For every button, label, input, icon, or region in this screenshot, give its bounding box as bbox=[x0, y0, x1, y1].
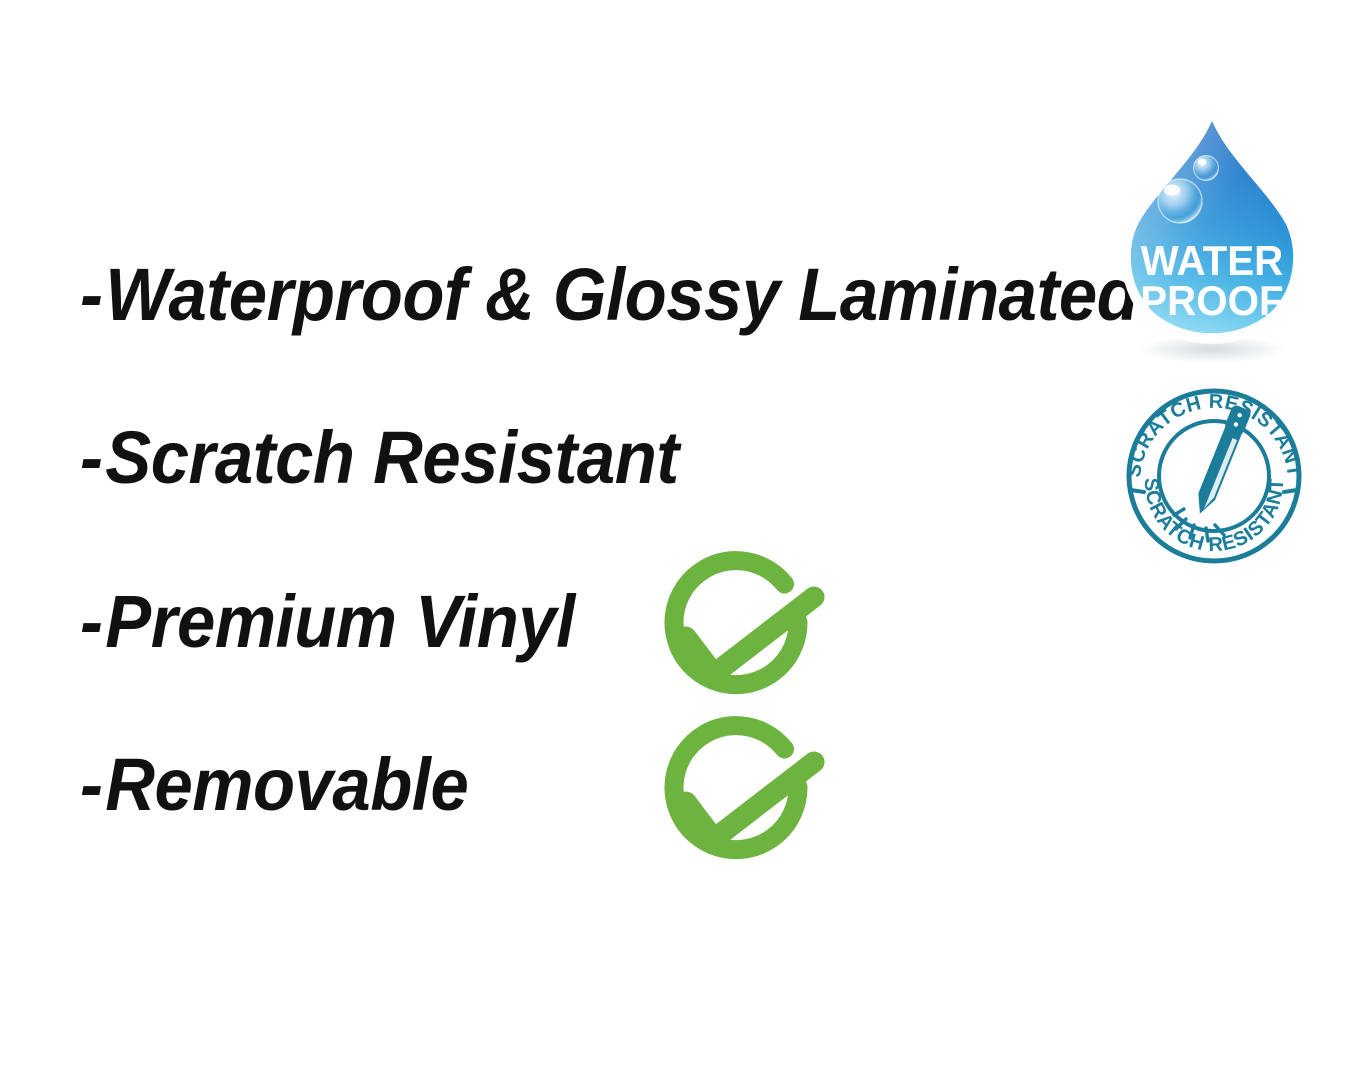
water-drop-icon: WATER PROOF bbox=[1098, 105, 1328, 367]
feature-item-premium-vinyl: -Premium Vinyl bbox=[80, 585, 575, 659]
circle-check-icon bbox=[636, 705, 836, 905]
scratch-resistant-badge: SCRATCH RESISTANT SCRATCH RESISTANT bbox=[1118, 386, 1310, 566]
feature-item-waterproof: -Waterproof & Glossy Laminated bbox=[80, 258, 1138, 332]
feature-list: -Waterproof & Glossy Laminated -Scratch … bbox=[0, 0, 1100, 1080]
bubble-large-highlight bbox=[1164, 185, 1180, 196]
knife-stamp-icon: SCRATCH RESISTANT SCRATCH RESISTANT bbox=[1118, 386, 1310, 566]
waterproof-line2: PROOF bbox=[1140, 277, 1283, 324]
bullet-dash: - bbox=[80, 585, 102, 659]
feature-label: Premium Vinyl bbox=[105, 580, 574, 663]
bullet-dash: - bbox=[80, 421, 102, 495]
bullet-dash: - bbox=[80, 258, 102, 332]
waterproof-badge: WATER PROOF bbox=[1098, 105, 1328, 367]
bubble-small-highlight bbox=[1198, 159, 1207, 166]
feature-label: Waterproof & Glossy Laminated bbox=[105, 253, 1138, 336]
bullet-dash: - bbox=[80, 748, 102, 822]
feature-item-scratch-resistant: -Scratch Resistant bbox=[80, 421, 679, 495]
bubble-small-icon bbox=[1194, 156, 1219, 181]
check-mark-removable bbox=[636, 705, 836, 905]
bubble-large-icon bbox=[1158, 179, 1202, 223]
feature-item-removable: -Removable bbox=[80, 748, 468, 822]
knife-blade bbox=[1192, 421, 1245, 517]
feature-label: Removable bbox=[105, 743, 468, 826]
feature-graphic-canvas: -Waterproof & Glossy Laminated -Scratch … bbox=[0, 0, 1359, 1080]
feature-label: Scratch Resistant bbox=[105, 416, 678, 499]
